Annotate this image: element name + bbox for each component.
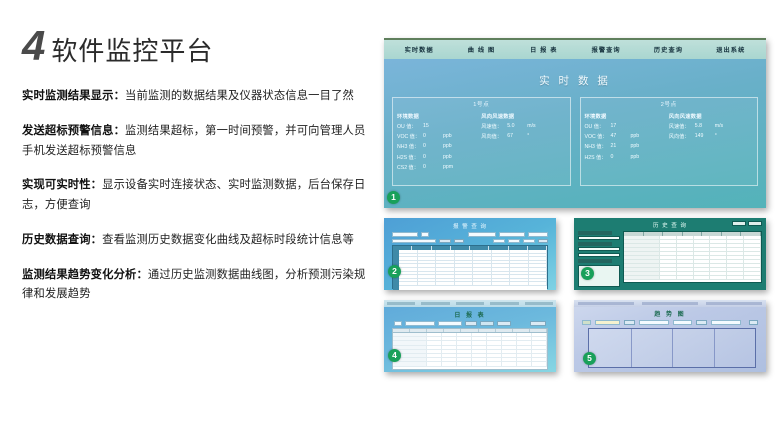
- alarm-stat-box-c[interactable]: [528, 232, 548, 237]
- bullet-lead: 历史数据查询：: [22, 234, 102, 246]
- bullet-item: 监测结果趋势变化分析：通过历史监测数据曲线图，分析预测污染规律和发展趋势: [22, 266, 374, 306]
- realtime-title: 实 时 数 据: [384, 73, 766, 88]
- alarm-stat-box-a[interactable]: [468, 232, 496, 237]
- trend-series-toggles[interactable]: [711, 320, 741, 325]
- row-unit: ppb: [631, 143, 647, 150]
- bullet-lead: 实时监测结果显示：: [22, 90, 125, 102]
- section-number: 4: [22, 26, 44, 66]
- alarm-count-a: [493, 239, 505, 244]
- trend-menu-bar: [574, 300, 766, 307]
- row-unit: °: [527, 133, 543, 140]
- badge-4: 4: [388, 349, 401, 362]
- row-unit: ppb: [443, 133, 459, 140]
- screenshot-alarm-query[interactable]: 2 报 警 查 询: [384, 218, 556, 290]
- data-row: 风向值：67°: [481, 133, 565, 140]
- env-header: 环境数据: [397, 112, 481, 120]
- row-unit: ppb: [443, 143, 459, 150]
- menu-item-curve[interactable]: 曲 线 图: [450, 45, 512, 54]
- screenshot-realtime-data[interactable]: 1 实时数据 曲 线 图 日 报 表 报警查询 历史查询 退出系统 实 时 数 …: [384, 38, 766, 208]
- report-date-to[interactable]: [438, 321, 462, 326]
- row-key: CS2 值：: [397, 164, 423, 171]
- data-row: H2S 值：0ppb: [397, 154, 481, 161]
- bullet-lead: 监测结果趋势变化分析：: [22, 269, 148, 281]
- station-panel-1: 1号点 环境数据 OU 值：15 VOC 值：0ppb NH3 值：0ppb H…: [392, 97, 571, 186]
- alarm-export-button[interactable]: [538, 239, 548, 244]
- row-key: 风速值：: [481, 123, 507, 130]
- env-header: 环境数据: [585, 112, 669, 120]
- alarm-query-button[interactable]: [439, 239, 451, 244]
- history-station-select[interactable]: [578, 236, 620, 240]
- row-key: H2S 值：: [397, 154, 423, 161]
- alarm-filter-bar: [384, 230, 556, 243]
- trend-query-button[interactable]: [624, 320, 635, 325]
- report-date-from[interactable]: [405, 321, 435, 326]
- bullet-body: 当前监测的数据结果及仪器状态信息一目了然: [125, 90, 354, 102]
- row-value: 5.8: [695, 123, 715, 130]
- alarm-reset-button[interactable]: [454, 239, 464, 244]
- history-toolbar: [732, 221, 762, 226]
- trend-date-from[interactable]: [639, 320, 669, 325]
- row-value: 21: [611, 143, 631, 150]
- row-key: 风速值：: [669, 123, 695, 130]
- screenshot-daily-report[interactable]: 4 日 报 表: [384, 300, 556, 372]
- data-row: 风向值：149°: [669, 133, 753, 140]
- row-unit: [443, 123, 459, 130]
- env-data-column: 环境数据 OU 值：17 VOC 值：47ppb NH3 值：21ppb H2S…: [585, 112, 669, 164]
- row-value: 15: [423, 123, 443, 130]
- content-column: 4 软件监控平台 实时监测结果显示：当前监测的数据结果及仪器状态信息一目了然 发…: [22, 22, 374, 402]
- history-label-item: [578, 259, 612, 263]
- row-value: 0: [423, 164, 443, 171]
- bullet-item: 发送超标预警信息：监测结果超标，第一时间预警，并可向管理人员手机发送超标预警信息: [22, 122, 374, 162]
- menu-item-history-query[interactable]: 历史查询: [637, 45, 699, 54]
- station-panel-2: 2号点 环境数据 OU 值：17 VOC 值：47ppb NH3 值：21ppb…: [580, 97, 759, 186]
- alarm-table[interactable]: [392, 245, 548, 289]
- screenshot-trend-chart[interactable]: 5 趋 势 图: [574, 300, 766, 372]
- menu-item-alarm-query[interactable]: 报警查询: [575, 45, 637, 54]
- alarm-date-from[interactable]: [392, 239, 436, 244]
- station-name: 1号点: [397, 100, 566, 108]
- bullet-list: 实时监测结果显示：当前监测的数据结果及仪器状态信息一目了然 发送超标预警信息：监…: [22, 87, 374, 305]
- data-row: OU 值：15: [397, 123, 481, 130]
- report-title: 日 报 表: [384, 310, 556, 319]
- row-unit: m/s: [715, 123, 731, 130]
- bullet-item: 历史数据查询：查看监测历史数据变化曲线及超标时段统计信息等: [22, 231, 374, 251]
- table-row: [624, 276, 761, 280]
- row-value: 149: [695, 133, 715, 140]
- trend-plot-area[interactable]: [588, 328, 756, 368]
- data-row: VOC 值：47ppb: [585, 133, 669, 140]
- row-unit: ppb: [631, 154, 647, 161]
- row-key: 风向值：: [669, 133, 695, 140]
- report-label-date: [394, 321, 402, 326]
- trend-label-station: [582, 320, 591, 325]
- badge-3: 3: [581, 267, 594, 280]
- trend-station-select[interactable]: [595, 320, 620, 325]
- row-unit: ppb: [631, 133, 647, 140]
- screenshot-gallery: 1 实时数据 曲 线 图 日 报 表 报警查询 历史查询 退出系统 实 时 数 …: [384, 38, 766, 388]
- history-date-to[interactable]: [578, 253, 620, 257]
- row-key: 风向值：: [481, 133, 507, 140]
- table-row: [393, 362, 547, 366]
- row-value: 5.0: [507, 123, 527, 130]
- row-key: H2S 值：: [585, 154, 611, 161]
- data-row: H2S 值：0ppb: [585, 154, 669, 161]
- data-row: OU 值：17: [585, 123, 669, 130]
- row-key: VOC 值：: [397, 133, 423, 140]
- row-value: 17: [611, 123, 631, 130]
- data-row: 风速值：5.8m/s: [669, 123, 753, 130]
- bullet-item: 实现可实时性：显示设备实时连接状态、实时监测数据，后台保存日志，方便查询: [22, 176, 374, 216]
- trend-close-button[interactable]: [749, 320, 758, 325]
- station-panels: 1号点 环境数据 OU 值：15 VOC 值：0ppb NH3 值：0ppb H…: [384, 88, 766, 186]
- bullet-body: 查看监测历史数据变化曲线及超标时段统计信息等: [102, 234, 354, 246]
- section-title: 软件监控平台: [51, 38, 213, 66]
- row-value: 67: [507, 133, 527, 140]
- row-value: 0: [423, 143, 443, 150]
- row-value: 0: [423, 154, 443, 161]
- row-value: 0: [423, 133, 443, 140]
- wind-header: 风向风速数据: [669, 112, 753, 120]
- history-print-button[interactable]: [732, 221, 746, 226]
- data-row: NH3 值：21ppb: [585, 143, 669, 150]
- row-unit: ppm: [443, 164, 459, 171]
- station-name: 2号点: [585, 100, 754, 108]
- report-query-button[interactable]: [465, 321, 477, 326]
- bullet-item: 实时监测结果显示：当前监测的数据结果及仪器状态信息一目了然: [22, 87, 374, 107]
- history-export-button[interactable]: [748, 221, 762, 226]
- report-menu-bar: [384, 300, 556, 307]
- menu-item-realtime[interactable]: 实时数据: [388, 45, 450, 54]
- report-table[interactable]: [392, 328, 548, 370]
- bullet-lead: 实现可实时性：: [22, 179, 102, 191]
- trend-apply-button[interactable]: [696, 320, 707, 325]
- history-label-station: [578, 231, 612, 235]
- badge-2: 2: [388, 265, 401, 278]
- row-key: OU 值：: [397, 123, 423, 130]
- data-row: CS2 值：0ppm: [397, 164, 481, 171]
- bullet-lead: 发送超标预警信息：: [22, 125, 125, 137]
- env-data-column: 环境数据 OU 值：15 VOC 值：0ppb NH3 值：0ppb H2S 值…: [397, 112, 481, 174]
- row-unit: °: [715, 133, 731, 140]
- row-key: VOC 值：: [585, 133, 611, 140]
- page-title: 4 软件监控平台: [22, 22, 374, 66]
- slide-root: 4 软件监控平台 实时监测结果显示：当前监测的数据结果及仪器状态信息一目了然 发…: [0, 0, 776, 421]
- report-print-button[interactable]: [480, 321, 494, 326]
- alarm-count-b: [508, 239, 520, 244]
- alarm-table-body: [399, 250, 547, 290]
- badge-5: 5: [583, 352, 596, 365]
- table-row: [399, 282, 547, 286]
- wind-data-column: 风向风速数据 风速值：5.8m/s 风向值：149°: [669, 112, 753, 164]
- data-row: VOC 值：0ppb: [397, 133, 481, 140]
- trend-date-to[interactable]: [673, 320, 693, 325]
- menu-item-daily-report[interactable]: 日 报 表: [513, 45, 575, 54]
- data-row: NH3 值：0ppb: [397, 143, 481, 150]
- alarm-stat-box-b[interactable]: [499, 232, 525, 237]
- trend-filter-bar: [574, 318, 766, 325]
- badge-1: 1: [387, 191, 400, 204]
- trend-title: 趋 势 图: [574, 309, 766, 318]
- alarm-type-select[interactable]: [392, 232, 418, 237]
- history-label-date: [578, 242, 612, 246]
- data-row: 风速值：5.0m/s: [481, 123, 565, 130]
- screenshot-history-query[interactable]: 3 历 史 查 询: [574, 218, 766, 290]
- history-table[interactable]: [623, 231, 762, 283]
- row-key: NH3 值：: [585, 143, 611, 150]
- history-date-from[interactable]: [578, 247, 620, 251]
- alarm-type-arrow[interactable]: [421, 232, 429, 237]
- wind-data-column: 风向风速数据 风速值：5.0m/s 风向值：67°: [481, 112, 565, 174]
- alarm-count-c: [523, 239, 535, 244]
- row-value: 0: [611, 154, 631, 161]
- report-close-button[interactable]: [530, 321, 546, 326]
- row-unit: ppb: [443, 154, 459, 161]
- menu-item-exit[interactable]: 退出系统: [700, 45, 762, 54]
- alarm-title: 报 警 查 询: [384, 222, 556, 230]
- row-unit: m/s: [527, 123, 543, 130]
- row-key: OU 值：: [585, 123, 611, 130]
- menu-bar: 实时数据 曲 线 图 日 报 表 报警查询 历史查询 退出系统: [384, 38, 766, 59]
- report-filter-bar: [384, 319, 556, 326]
- report-export-button[interactable]: [497, 321, 511, 326]
- wind-header: 风向风速数据: [481, 112, 565, 120]
- row-key: NH3 值：: [397, 143, 423, 150]
- row-unit: [631, 123, 647, 130]
- row-value: 47: [611, 133, 631, 140]
